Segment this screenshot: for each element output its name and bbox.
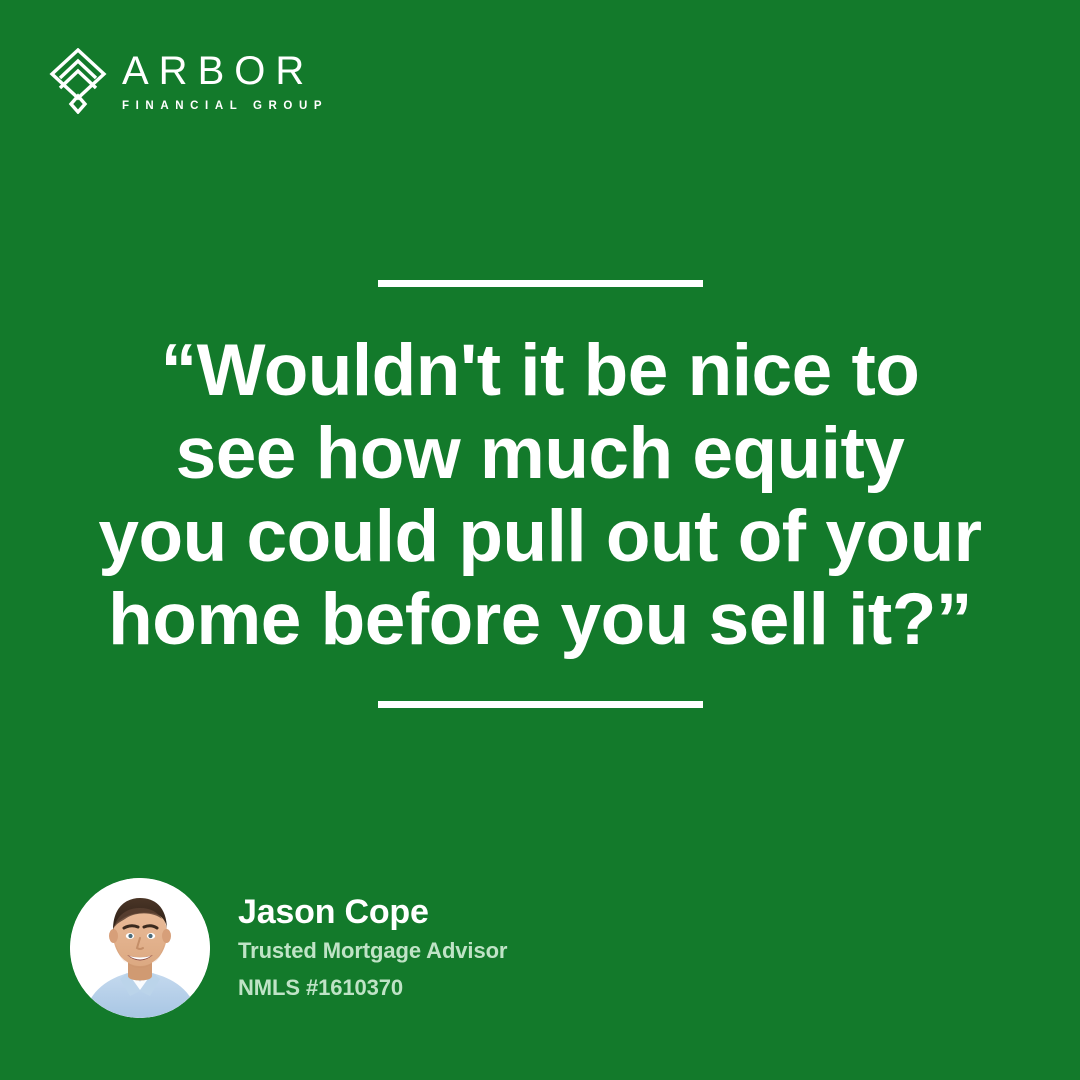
avatar [70,878,210,1018]
author-role: Trusted Mortgage Advisor [238,937,507,965]
quote-block: “Wouldn't it be nice to see how much equ… [0,280,1080,708]
author-name: Jason Cope [238,893,507,931]
social-quote-card: ARBOR FINANCIAL GROUP “Wouldn't it be ni… [0,0,1080,1080]
author-signature: Jason Cope Trusted Mortgage Advisor NMLS… [70,878,507,1018]
brand-wordmark: ARBOR FINANCIAL GROUP [122,49,328,113]
divider-bottom [378,701,703,708]
author-details: Jason Cope Trusted Mortgage Advisor NMLS… [238,893,507,1003]
brand-logo: ARBOR FINANCIAL GROUP [48,48,328,114]
author-license: NMLS #1610370 [238,974,507,1002]
quote-text: “Wouldn't it be nice to see how much equ… [90,329,990,661]
arbor-diamond-chevron-logo-icon [48,48,108,114]
brand-name: ARBOR [122,51,328,91]
quote-line: you could pull out of your [90,495,990,578]
brand-tagline: FINANCIAL GROUP [122,101,328,113]
quote-line: “Wouldn't it be nice to [90,329,990,412]
quote-line: home before you sell it?” [90,578,990,661]
divider-top [378,280,703,287]
quote-line: see how much equity [90,412,990,495]
